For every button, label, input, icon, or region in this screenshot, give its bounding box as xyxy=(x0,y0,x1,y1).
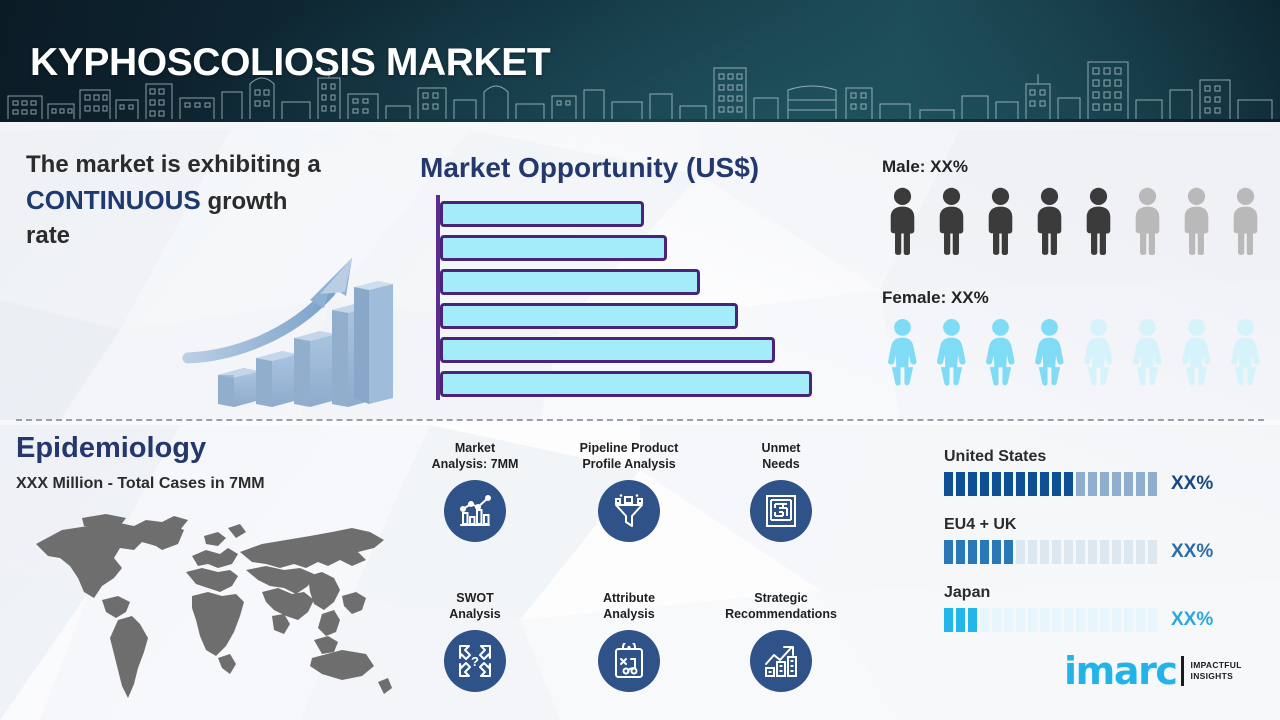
region-meter-row: XX% xyxy=(944,472,1213,496)
female-share-block: Female: XX% xyxy=(882,288,1266,386)
analysis-label-line2: Analysis xyxy=(603,606,654,622)
meter-segment-filled xyxy=(968,540,977,564)
male-person-icon xyxy=(1029,187,1070,255)
meter-segment-empty xyxy=(1064,540,1073,564)
statement-line-3: rate xyxy=(26,219,396,253)
female-person-icon xyxy=(1029,318,1070,386)
analysis-item-unmet-needs[interactable]: Unmet Needs xyxy=(706,438,856,542)
region-percent: XX% xyxy=(1171,609,1213,631)
epidemiology-title: Epidemiology xyxy=(16,432,206,465)
analysis-caption: Strategic Recommendations xyxy=(706,588,856,622)
analysis-label-line1: Attribute xyxy=(603,590,655,606)
region-united-states: United States xyxy=(944,448,1213,496)
meter-segment-filled xyxy=(944,472,953,496)
meter-segment-filled xyxy=(956,540,965,564)
meter-segment-filled xyxy=(944,608,953,632)
meter-segment-empty xyxy=(980,608,989,632)
meter-segment-empty xyxy=(1136,472,1145,496)
region-percent: XX% xyxy=(1171,473,1213,495)
meter-segment-filled xyxy=(956,608,965,632)
section-divider xyxy=(16,419,1264,421)
meter-segment-filled xyxy=(1040,472,1049,496)
meter-segment-filled xyxy=(944,540,953,564)
header-bottom-edge xyxy=(0,119,1280,122)
statement-line-2: CONTINUOUS growth xyxy=(26,182,396,219)
female-person-icon-muted xyxy=(1176,318,1217,386)
meter-segment-empty xyxy=(1088,608,1097,632)
meter-segment-empty xyxy=(1112,540,1121,564)
svg-text:?: ? xyxy=(471,654,479,669)
opportunity-bar xyxy=(440,303,738,329)
region-label: EU4 + UK xyxy=(944,516,1213,534)
page-title: KYPHOSCOLIOSIS MARKET xyxy=(30,41,550,85)
male-person-icon xyxy=(980,187,1021,255)
female-person-icon xyxy=(931,318,972,386)
statement-line-2-rest: growth xyxy=(201,188,288,215)
meter-segment-empty xyxy=(1040,608,1049,632)
analysis-label-line1: Market xyxy=(455,440,495,456)
male-person-icon xyxy=(882,187,923,255)
meter-segment-empty xyxy=(1088,540,1097,564)
male-label: Male: XX% xyxy=(882,157,1266,177)
meter-segment-empty xyxy=(1148,472,1157,496)
opportunity-bar xyxy=(440,235,667,261)
meter-segment-filled xyxy=(992,540,1001,564)
meter-segment-filled xyxy=(1064,472,1073,496)
meter-segment-filled xyxy=(1004,540,1013,564)
analysis-caption: Pipeline Product Profile Analysis xyxy=(554,438,704,472)
region-japan: Japan XX% xyxy=(944,584,1213,632)
market-opportunity-chart xyxy=(436,195,836,400)
male-icon-row xyxy=(882,187,1266,255)
meter-segment-filled xyxy=(1028,472,1037,496)
meter-segment-empty xyxy=(1136,608,1145,632)
meter-segment-empty xyxy=(1136,540,1145,564)
region-meter-row: XX% xyxy=(944,608,1213,632)
opportunity-bar xyxy=(440,371,812,397)
male-person-icon-muted xyxy=(1176,187,1217,255)
analysis-label-line2: Profile Analysis xyxy=(582,456,675,472)
male-share-block: Male: XX% xyxy=(882,157,1266,255)
meter-segment-empty xyxy=(1028,608,1037,632)
meter-segment-empty xyxy=(1016,608,1025,632)
meter-segment-empty xyxy=(1124,540,1133,564)
meter-segment-empty xyxy=(1124,472,1133,496)
swot-arrows-question-icon[interactable]: ? xyxy=(444,630,506,692)
chart-y-axis xyxy=(436,195,440,400)
logo-tagline-line2: INSIGHTS xyxy=(1191,671,1242,682)
logo-tagline-line1: IMPACTFUL xyxy=(1191,660,1242,671)
page-header: KYPHOSCOLIOSIS MARKET xyxy=(0,0,1280,122)
meter-segment-empty xyxy=(1124,608,1133,632)
meter-segment-empty xyxy=(1052,608,1061,632)
meter-segment-empty xyxy=(1148,540,1157,564)
imarc-logo[interactable]: imarc IMPACTFUL INSIGHTS xyxy=(1064,652,1242,690)
region-meter xyxy=(944,540,1157,564)
statement-line-1: The market is exhibiting a xyxy=(26,148,396,182)
analysis-label-line1: Pipeline Product xyxy=(580,440,679,456)
meter-segment-filled xyxy=(980,540,989,564)
analysis-caption: Market Analysis: 7MM xyxy=(400,438,550,472)
opportunity-bar xyxy=(440,201,644,227)
meter-segment-filled xyxy=(992,472,1001,496)
analysis-caption: SWOT Analysis xyxy=(400,588,550,622)
meter-segment-filled xyxy=(1004,472,1013,496)
meter-segment-empty xyxy=(1112,608,1121,632)
region-label: United States xyxy=(944,448,1213,466)
analysis-caption: Attribute Analysis xyxy=(554,588,704,622)
female-label: Female: XX% xyxy=(882,288,1266,308)
logo-wordmark: imarc xyxy=(1064,652,1177,690)
analysis-item-swot[interactable]: SWOT Analysis ? xyxy=(400,588,550,692)
logo-tagline: IMPACTFUL INSIGHTS xyxy=(1191,660,1242,682)
infographic-page: KYPHOSCOLIOSIS MARKET The market is exhi… xyxy=(0,0,1280,720)
logo-divider xyxy=(1181,656,1184,686)
meter-segment-empty xyxy=(1100,608,1109,632)
meter-segment-filled xyxy=(1016,472,1025,496)
meter-segment-empty xyxy=(1100,472,1109,496)
meter-segment-filled xyxy=(968,608,977,632)
meter-segment-empty xyxy=(1076,472,1085,496)
analysis-item-strategic[interactable]: Strategic Recommendations xyxy=(706,588,856,692)
meter-segment-filled xyxy=(968,472,977,496)
female-person-icon-muted xyxy=(1127,318,1168,386)
meter-segment-empty xyxy=(1076,540,1085,564)
opportunity-bar xyxy=(440,337,775,363)
male-person-icon-muted xyxy=(1127,187,1168,255)
female-icon-row xyxy=(882,318,1266,386)
analysis-label-line2: Analysis xyxy=(449,606,500,622)
meter-segment-empty xyxy=(1100,540,1109,564)
epidemiology-subtitle: XXX Million - Total Cases in 7MM xyxy=(16,475,265,493)
world-map-graphic xyxy=(22,500,400,718)
region-meter xyxy=(944,472,1157,496)
analysis-label-line1: SWOT xyxy=(456,590,494,606)
opportunity-bar xyxy=(440,269,700,295)
market-statement: The market is exhibiting a CONTINUOUS gr… xyxy=(26,148,396,253)
analysis-label-line1: Strategic xyxy=(754,590,808,606)
meter-segment-empty xyxy=(1040,540,1049,564)
analysis-label-line2: Analysis: 7MM xyxy=(432,456,519,472)
meter-segment-empty xyxy=(992,608,1001,632)
analysis-label-line2: Recommendations xyxy=(725,606,837,622)
female-person-icon-muted xyxy=(1078,318,1119,386)
analysis-item-attribute[interactable]: Attribute Analysis xyxy=(554,588,704,692)
statement-highlight: CONTINUOUS xyxy=(26,185,201,215)
region-eu4-uk: EU4 + UK XX% xyxy=(944,516,1213,564)
growth-arrow-bars-icon[interactable] xyxy=(750,630,812,692)
bar-chart-trend-icon[interactable] xyxy=(444,480,506,542)
maze-icon[interactable] xyxy=(750,480,812,542)
meter-segment-empty xyxy=(1052,540,1061,564)
meter-segment-empty xyxy=(1004,608,1013,632)
male-person-icon xyxy=(931,187,972,255)
market-opportunity-title: Market Opportunity (US$) xyxy=(420,152,759,184)
region-meter xyxy=(944,608,1157,632)
meter-segment-empty xyxy=(1064,608,1073,632)
meter-segment-empty xyxy=(1112,472,1121,496)
meter-segment-empty xyxy=(1076,608,1085,632)
analysis-caption: Unmet Needs xyxy=(706,438,856,472)
female-person-icon xyxy=(980,318,1021,386)
meter-segment-filled xyxy=(956,472,965,496)
meter-segment-empty xyxy=(1028,540,1037,564)
meter-segment-filled xyxy=(1052,472,1061,496)
meter-segment-filled xyxy=(980,472,989,496)
analysis-item-market-analysis[interactable]: Market Analysis: 7MM xyxy=(400,438,550,542)
region-label: Japan xyxy=(944,584,1213,602)
analysis-item-pipeline-product[interactable]: Pipeline Product Profile Analysis xyxy=(554,438,704,542)
clipboard-strategy-icon[interactable] xyxy=(598,630,660,692)
female-person-icon xyxy=(882,318,923,386)
region-percent: XX% xyxy=(1171,541,1213,563)
meter-segment-empty xyxy=(1088,472,1097,496)
growth-bar-chart-with-arrow-icon xyxy=(182,252,397,410)
meter-segment-empty xyxy=(1148,608,1157,632)
analysis-label-line2: Needs xyxy=(762,456,800,472)
male-person-icon xyxy=(1078,187,1119,255)
male-person-icon-muted xyxy=(1225,187,1266,255)
funnel-filter-icon[interactable] xyxy=(598,480,660,542)
female-person-icon-muted xyxy=(1225,318,1266,386)
region-meter-row: XX% xyxy=(944,540,1213,564)
meter-segment-empty xyxy=(1016,540,1025,564)
analysis-label-line1: Unmet xyxy=(762,440,801,456)
